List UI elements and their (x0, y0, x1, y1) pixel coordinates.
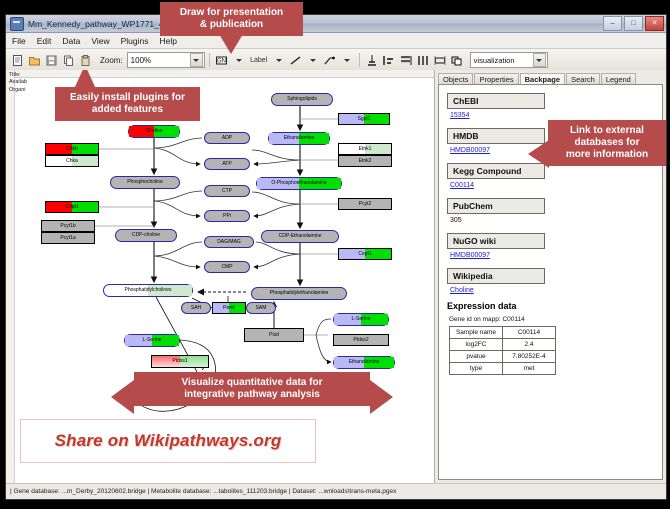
pathway-node-label: Chpt1 (65, 205, 78, 210)
pathway-node-label: CTP (222, 189, 232, 194)
pathway-node-chka[interactable]: Chka (45, 155, 99, 167)
table-cell: met (503, 363, 556, 375)
label-icon[interactable]: Label (248, 52, 270, 68)
pathway-node-ethanolamine-bottom[interactable]: Ethanolamine (333, 356, 395, 369)
callout-draw-line2: & publication (168, 19, 295, 31)
pathway-node-label: Pcyt1a (60, 236, 75, 241)
backpage-heading-wikipedia: Wikipedia (447, 268, 545, 284)
visualization-value: visualization (474, 56, 515, 65)
expression-table: Sample nameC00114log2FC2.4pvalue7.80252E… (449, 326, 556, 375)
backpage-heading-chebi: ChEBI (447, 93, 545, 109)
pathway-node-label: Pisd (269, 333, 279, 338)
table-cell: type (450, 363, 503, 375)
pathway-node-ppi[interactable]: PPi (204, 210, 250, 222)
pathway-node-l-serine-left[interactable]: L-Serine (124, 334, 180, 347)
callout-plugins-line1: Easily install plugins for (63, 92, 192, 104)
callout-links-line1: Link to external (556, 125, 658, 137)
pathway-node-label: Phosphatidylethanolamine (270, 291, 329, 296)
pathway-node-l-serine-right[interactable]: L-Serine (333, 313, 389, 326)
interaction-chevron-down-icon[interactable] (339, 52, 355, 68)
app-icon (10, 17, 24, 31)
pathway-node-sgpl1[interactable]: Sgpl1 (338, 113, 390, 125)
screenshot-root: Mm_Kennedy_pathway_WP1771_45176.gpml - P… (0, 0, 670, 509)
save-icon[interactable] (43, 52, 59, 68)
callout-plugins-line2: added features (63, 104, 192, 116)
callout-links-line3: more information (556, 149, 658, 161)
pathway-node-adp[interactable]: ADP (204, 132, 250, 144)
svg-text:GN: GN (217, 58, 226, 64)
table-row: pvalue7.80252E-4 (450, 351, 556, 363)
pathway-node-label: Ptdss1 (172, 359, 187, 364)
callout-visualize-arrow-right (370, 380, 393, 414)
pathway-node-cmp[interactable]: CMP (204, 261, 250, 273)
pathway-node-dagmag[interactable]: DAG/MAG (204, 236, 254, 248)
menu-file[interactable]: File (10, 35, 28, 47)
chevron-down-icon[interactable] (190, 53, 203, 67)
table-cell: C00114 (503, 327, 556, 339)
table-cell: 7.80252E-4 (503, 351, 556, 363)
callout-links: Link to external databases for more info… (548, 120, 666, 166)
minimize-button[interactable]: – (603, 16, 622, 31)
pathway-node-label: ADP (222, 136, 232, 141)
title-bar: Mm_Kennedy_pathway_WP1771_45176.gpml - P… (6, 15, 666, 33)
menu-help[interactable]: Help (158, 35, 179, 47)
pathway-node-sah[interactable]: SAH (181, 302, 211, 314)
menu-data[interactable]: Data (60, 35, 82, 47)
table-cell: Sample name (450, 327, 503, 339)
status-bar: | Gene database: ...m_Derby_20120602.bri… (6, 483, 666, 499)
pathway-node-label: Chkb (66, 147, 78, 152)
distribute-icon[interactable] (415, 52, 431, 68)
align-left-icon[interactable] (381, 52, 397, 68)
pathway-node-label: L-Serine (352, 317, 371, 322)
open-folder-icon[interactable] (26, 52, 42, 68)
pathway-node-label: SAM (256, 306, 267, 311)
pathway-node-etnk1[interactable]: Etnk1 (338, 143, 392, 155)
backpage-heading-pubchem: PubChem (447, 198, 545, 214)
pathway-node-phosphatidylethanolamine[interactable]: Phosphatidylethanolamine (251, 287, 347, 300)
pathway-node-pcyt1b[interactable]: Pcyt1b (41, 220, 95, 232)
pathway-node-ptdss1[interactable]: Ptdss1 (151, 355, 209, 368)
pathway-node-label: ATP (222, 162, 231, 167)
table-row: typemet (450, 363, 556, 375)
pathway-node-choline-top[interactable]: Choline (128, 125, 180, 138)
pathway-node-atp[interactable]: ATP (204, 158, 250, 170)
paste-icon[interactable] (77, 52, 93, 68)
pathway-node-label: Sgpl1 (358, 117, 371, 122)
pathway-node-label: Etnk1 (359, 147, 372, 152)
line-icon[interactable] (288, 52, 304, 68)
status-text: | Gene database: ...m_Derby_20120602.bri… (10, 488, 396, 495)
pathway-node-label: O-Phosphoethanolamine (271, 181, 326, 186)
pathway-node-pisd[interactable]: Pisd (244, 328, 304, 342)
pathway-node-label: CMP (221, 265, 232, 270)
pathway-node-label: Ethanolamine (284, 136, 315, 141)
toolbar-separator (209, 53, 210, 67)
callout-plugins: Easily install plugins for added feature… (55, 87, 200, 121)
new-file-icon[interactable] (9, 52, 25, 68)
pathway-node-pemt[interactable]: Pemt (212, 302, 246, 314)
align-top-icon[interactable] (364, 52, 380, 68)
interaction-icon[interactable] (322, 52, 338, 68)
visualization-combo[interactable]: visualization (470, 52, 548, 68)
copy-icon[interactable] (60, 52, 76, 68)
pathway-node-pcyt1a[interactable]: Pcyt1a (41, 232, 95, 244)
callout-links-line2: databases for (556, 137, 658, 149)
backpage-value-kegg-compound[interactable]: C00114 (450, 182, 656, 189)
visualization-chevron-down-icon[interactable] (533, 53, 546, 67)
line-chevron-down-icon[interactable] (305, 52, 321, 68)
callout-visualize-line1: Visualize quantitative data for (142, 377, 362, 389)
close-button[interactable]: ✕ (645, 16, 664, 31)
table-row: log2FC2.4 (450, 339, 556, 351)
zoom-label: Zoom: (100, 56, 123, 65)
menu-view[interactable]: View (89, 35, 111, 47)
pathway-node-label: Sphingolipids (287, 97, 317, 102)
pathway-node-cdp-ethanolamine[interactable]: CDP-Ethanolamine (261, 230, 339, 243)
pathway-node-sphingolipids[interactable]: Sphingolipids (271, 93, 333, 106)
pathway-node-etnk2[interactable]: Etnk2 (338, 155, 392, 167)
table-cell: pvalue (450, 351, 503, 363)
pathway-node-label: Ptdss2 (353, 338, 368, 343)
pathway-node-o-phosphoethanolamine[interactable]: O-Phosphoethanolamine (256, 177, 342, 190)
pathway-node-phosphocholine[interactable]: Phosphocholine (110, 176, 180, 189)
expression-data-title: Expression data (447, 301, 656, 311)
backpage-value-pubchem: 305 (450, 217, 656, 224)
datanode-chevron-down-icon[interactable] (231, 52, 247, 68)
pathway-node-ctp[interactable]: CTP (204, 185, 250, 197)
callout-visualize: Visualize quantitative data for integrat… (134, 372, 370, 406)
pathway-node-sam[interactable]: SAM (246, 302, 276, 314)
share-banner: Share on Wikipathways.org (20, 419, 316, 463)
pathway-node-label: Chka (66, 159, 78, 164)
pathway-node-pcyt2[interactable]: Pcyt2 (338, 198, 392, 210)
toolbar: Zoom: 100% GN Label (6, 49, 666, 72)
pathway-node-label: Phosphatidylcholines (125, 288, 172, 293)
table-cell: 2.4 (503, 339, 556, 351)
menu-edit[interactable]: Edit (35, 35, 54, 47)
pathway-node-label: PPi (223, 214, 231, 219)
menu-plugins[interactable]: Plugins (119, 35, 151, 47)
pathway-node-label: CDP-Ethanolamine (279, 234, 322, 239)
callout-links-arrow (528, 140, 549, 168)
maximize-button[interactable]: □ (624, 16, 643, 31)
pathway-node-ethanolamine-top[interactable]: Ethanolamine (268, 132, 330, 145)
backpage-heading-nugo-wiki: NuGO wiki (447, 233, 545, 249)
pathway-node-label: Pcyt2 (359, 202, 372, 207)
pathway-node-chpt1[interactable]: Chpt1 (45, 201, 99, 213)
callout-draw: Draw for presentation & publication (160, 2, 303, 36)
toolbar-separator-2 (359, 53, 360, 67)
pathway-node-label: Pcyt1b (60, 224, 75, 229)
label-chevron-down-icon[interactable] (271, 52, 287, 68)
backpage-value-chebi[interactable]: 15354 (450, 112, 656, 119)
pathway-node-phosphatidylcholines[interactable]: Phosphatidylcholines (103, 284, 193, 297)
gene-id-label: Gene id on mapp: C00114 (449, 316, 656, 323)
pathway-node-label: SAH (191, 306, 201, 311)
pathway-node-cdp-choline[interactable]: CDP-choline (115, 229, 177, 242)
datanode-icon[interactable]: GN (214, 52, 230, 68)
pathway-node-label: Pemt (223, 306, 235, 311)
pathway-node-label: Cept1 (358, 252, 371, 257)
pathway-node-label: CDP-choline (132, 233, 160, 238)
pathway-node-label: DAG/MAG (217, 240, 241, 245)
pathway-node-label: Ethanolamine (349, 360, 380, 365)
pathway-node-ptdss2[interactable]: Ptdss2 (333, 334, 389, 346)
callout-draw-arrow (219, 34, 243, 54)
pathway-node-label: Choline (146, 129, 163, 134)
callout-visualize-arrow-left (111, 380, 134, 414)
size-common-icon[interactable] (432, 52, 448, 68)
callout-visualize-line2: integrative pathway analysis (142, 389, 362, 401)
callout-draw-line1: Draw for presentation (168, 7, 295, 19)
share-banner-text: Share on Wikipathways.org (55, 431, 282, 451)
backpage-value-wikipedia[interactable]: Choline (450, 287, 656, 294)
z-order-icon[interactable] (449, 52, 465, 68)
table-cell: log2FC (450, 339, 503, 351)
window-controls[interactable]: – □ ✕ (603, 16, 664, 31)
backpage-value-nugo-wiki[interactable]: HMDB00097 (450, 252, 656, 259)
pathway-node-chkb[interactable]: Chkb (45, 143, 99, 155)
label-tool-label: Label (250, 57, 267, 64)
zoom-combo[interactable]: 100% (127, 52, 205, 68)
pathway-node-cept1[interactable]: Cept1 (338, 248, 392, 260)
pathway-node-label: L-Serine (143, 338, 162, 343)
pathway-node-label: Phosphocholine (127, 180, 163, 185)
pathway-node-label: Etnk2 (359, 159, 372, 164)
table-row: Sample nameC00114 (450, 327, 556, 339)
menu-bar: File Edit Data View Plugins Help (6, 33, 666, 49)
stack-vertical-icon[interactable] (398, 52, 414, 68)
zoom-value: 100% (131, 56, 151, 65)
